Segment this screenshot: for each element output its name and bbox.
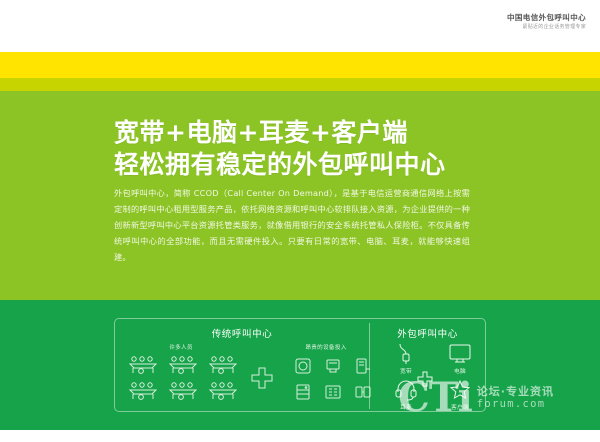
plus-icon xyxy=(417,371,433,391)
traditional-staff-label: 许多人员 xyxy=(127,343,235,351)
traditional-equipment-label: 昂贵的设备投入 xyxy=(283,343,369,351)
workstation-icon xyxy=(127,351,161,375)
outsourced-title: 外包呼叫中心 xyxy=(369,326,486,340)
outsourced-item-label: 电脑 xyxy=(454,367,466,375)
agents-icon-grid xyxy=(127,351,241,401)
workstation-icon xyxy=(127,377,161,401)
plus-icon xyxy=(251,367,273,393)
server-rack-icon xyxy=(321,351,345,375)
switch-icon xyxy=(321,377,345,401)
network-gear-icon xyxy=(351,377,375,401)
traditional-title: 传统呼叫中心 xyxy=(115,326,369,340)
headline-line-1: 宽带+电脑+耳麦+客户端 xyxy=(114,117,446,149)
poster-canvas: 中国电信外包呼叫中心 紧贴近的企业话务管理专家 宽带+电脑+耳麦+客户端 轻松拥… xyxy=(0,0,600,442)
workstation-icon xyxy=(207,351,241,375)
equipment-icon-grid xyxy=(291,351,375,401)
outsourced-item-label: 宽带 xyxy=(400,367,412,375)
comparison-panel: 传统呼叫中心 外包呼叫中心 许多人员 昂贵的设备投入 xyxy=(114,318,486,412)
hero-headline: 宽带+电脑+耳麦+客户端 轻松拥有稳定的外包呼叫中心 xyxy=(114,117,446,181)
workstation-icon xyxy=(167,351,201,375)
footer-whitespace xyxy=(0,430,600,442)
header-title: 中国电信外包呼叫中心 xyxy=(507,13,586,22)
workstation-icon xyxy=(207,377,241,401)
headline-line-2: 轻松拥有稳定的外包呼叫中心 xyxy=(114,149,446,181)
outsourced-item-label: 耳麦 xyxy=(400,403,412,411)
header-logo-block: 中国电信外包呼叫中心 紧贴近的企业话务管理专家 xyxy=(507,13,586,30)
lime-band xyxy=(0,78,600,91)
header-subtitle: 紧贴近的企业话务管理专家 xyxy=(507,24,586,30)
monitor-icon: 电脑 xyxy=(437,343,483,375)
star-client-icon: 客户端 xyxy=(437,379,483,411)
workstation-icon xyxy=(167,377,201,401)
outsourced-item-label: 客户端 xyxy=(451,403,469,411)
pbx-icon xyxy=(291,351,315,375)
yellow-band xyxy=(0,52,600,78)
cabinet-icon xyxy=(291,377,315,401)
server-tower-icon xyxy=(351,351,375,375)
outsourced-icon-grid: 宽带 电脑 耳麦 客户端 xyxy=(383,343,483,411)
hero-body-text: 外包呼叫中心，简称 CCOD（Call Center On Demand），是基… xyxy=(114,186,470,266)
